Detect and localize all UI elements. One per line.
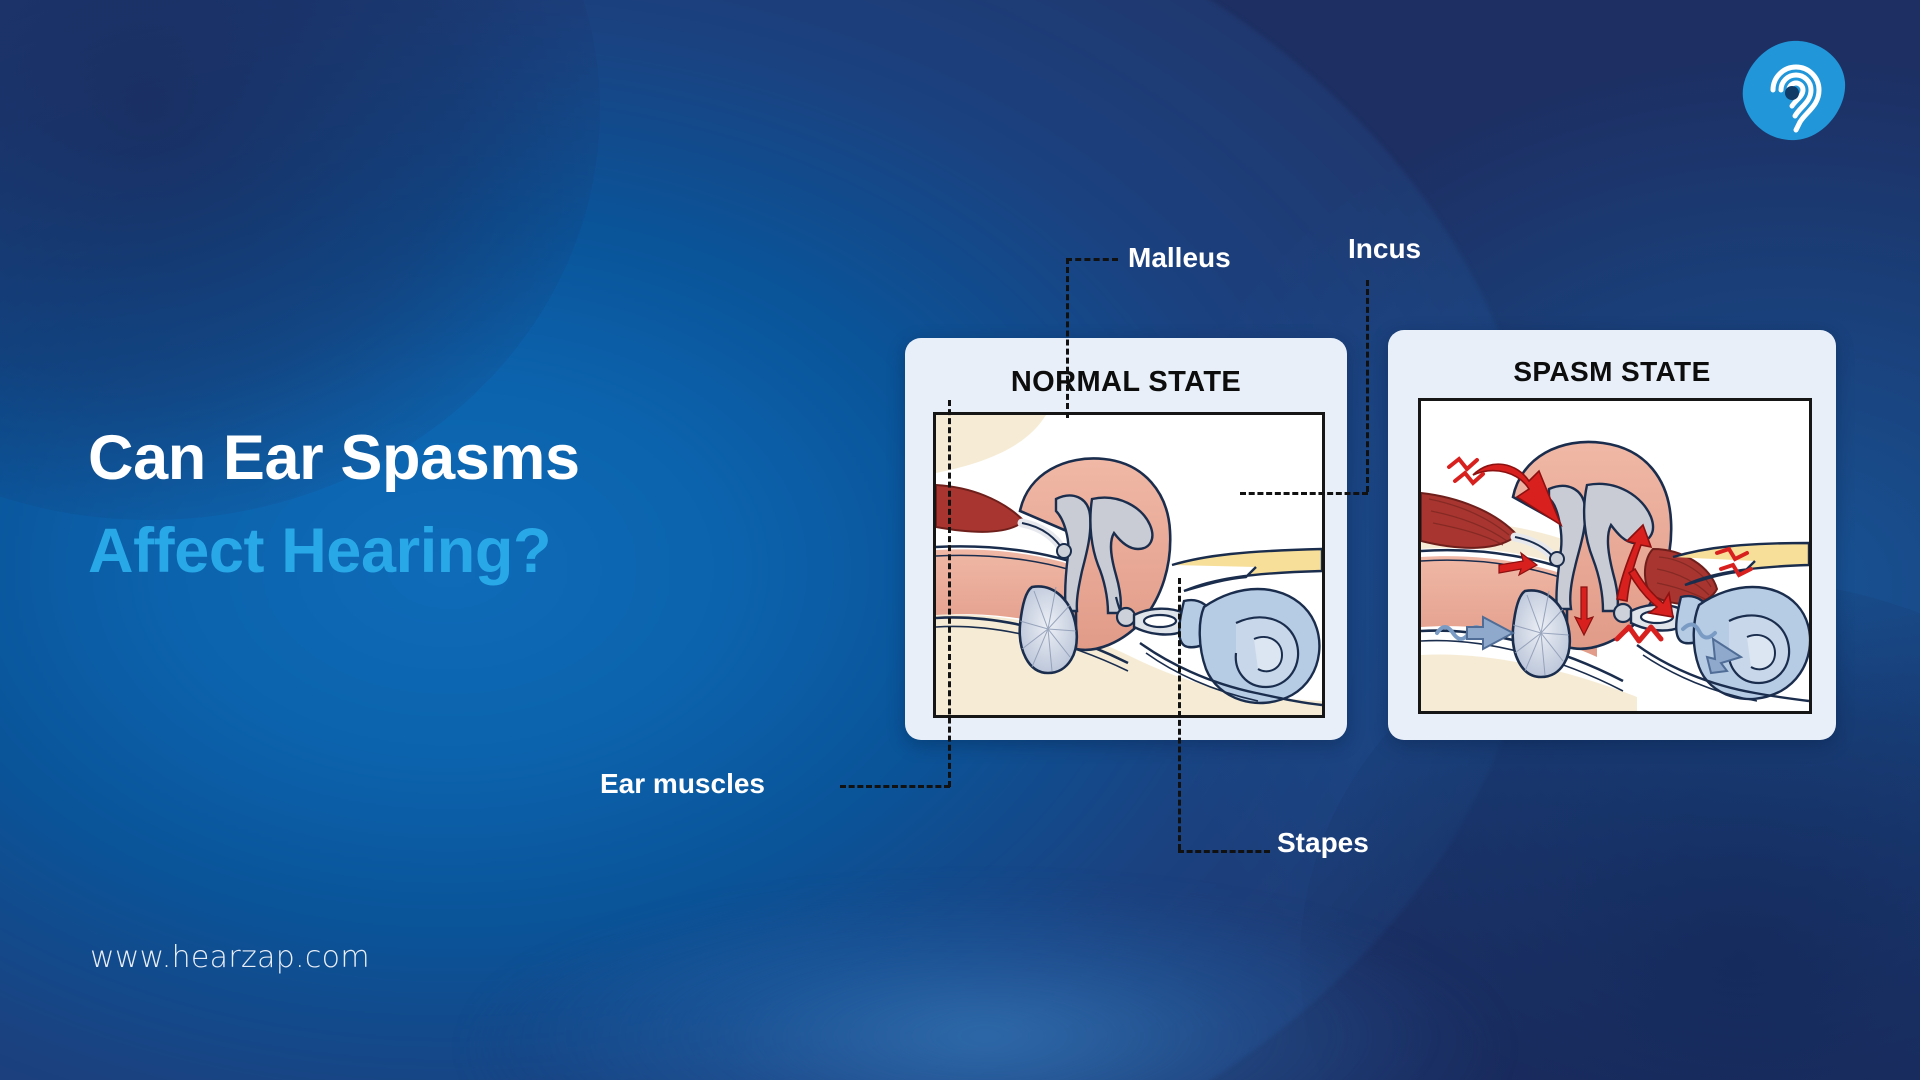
headline-line-2: Affect Hearing? (88, 520, 848, 583)
callout-label-stapes: Stapes (1277, 827, 1369, 859)
callout-label-malleus: Malleus (1128, 242, 1231, 274)
panel-normal-state: NORMAL STATE (905, 338, 1347, 740)
callout-label-incus: Incus (1348, 233, 1421, 265)
leader-line-malleus-vertical (1066, 258, 1069, 418)
leader-line-ear-muscles-vertical (948, 400, 951, 787)
page-title: Can Ear Spasms Affect Hearing? (88, 427, 848, 583)
panel-spasm-state-title: SPASM STATE (1388, 356, 1836, 388)
site-url[interactable]: www.hearzap.com (90, 940, 370, 975)
leader-line-stapes-horizontal (1178, 850, 1270, 853)
hearzap-logo-icon[interactable] (1740, 38, 1848, 142)
leader-line-ear-muscles-horizontal (840, 785, 950, 788)
panel-spasm-state: SPASM STATE (1388, 330, 1836, 740)
normal-state-ear-anatomy-figure (933, 412, 1325, 718)
panel-normal-state-title: NORMAL STATE (905, 366, 1347, 399)
leader-line-incus-vertical (1366, 280, 1369, 492)
headline-line-1: Can Ear Spasms (88, 427, 848, 490)
leader-line-incus-horizontal (1240, 492, 1368, 495)
spasm-state-ear-anatomy-figure (1418, 398, 1812, 714)
leader-line-malleus-horizontal (1066, 258, 1118, 261)
callout-label-ear-muscles: Ear muscles (600, 768, 765, 800)
leader-line-stapes-vertical (1178, 578, 1181, 850)
